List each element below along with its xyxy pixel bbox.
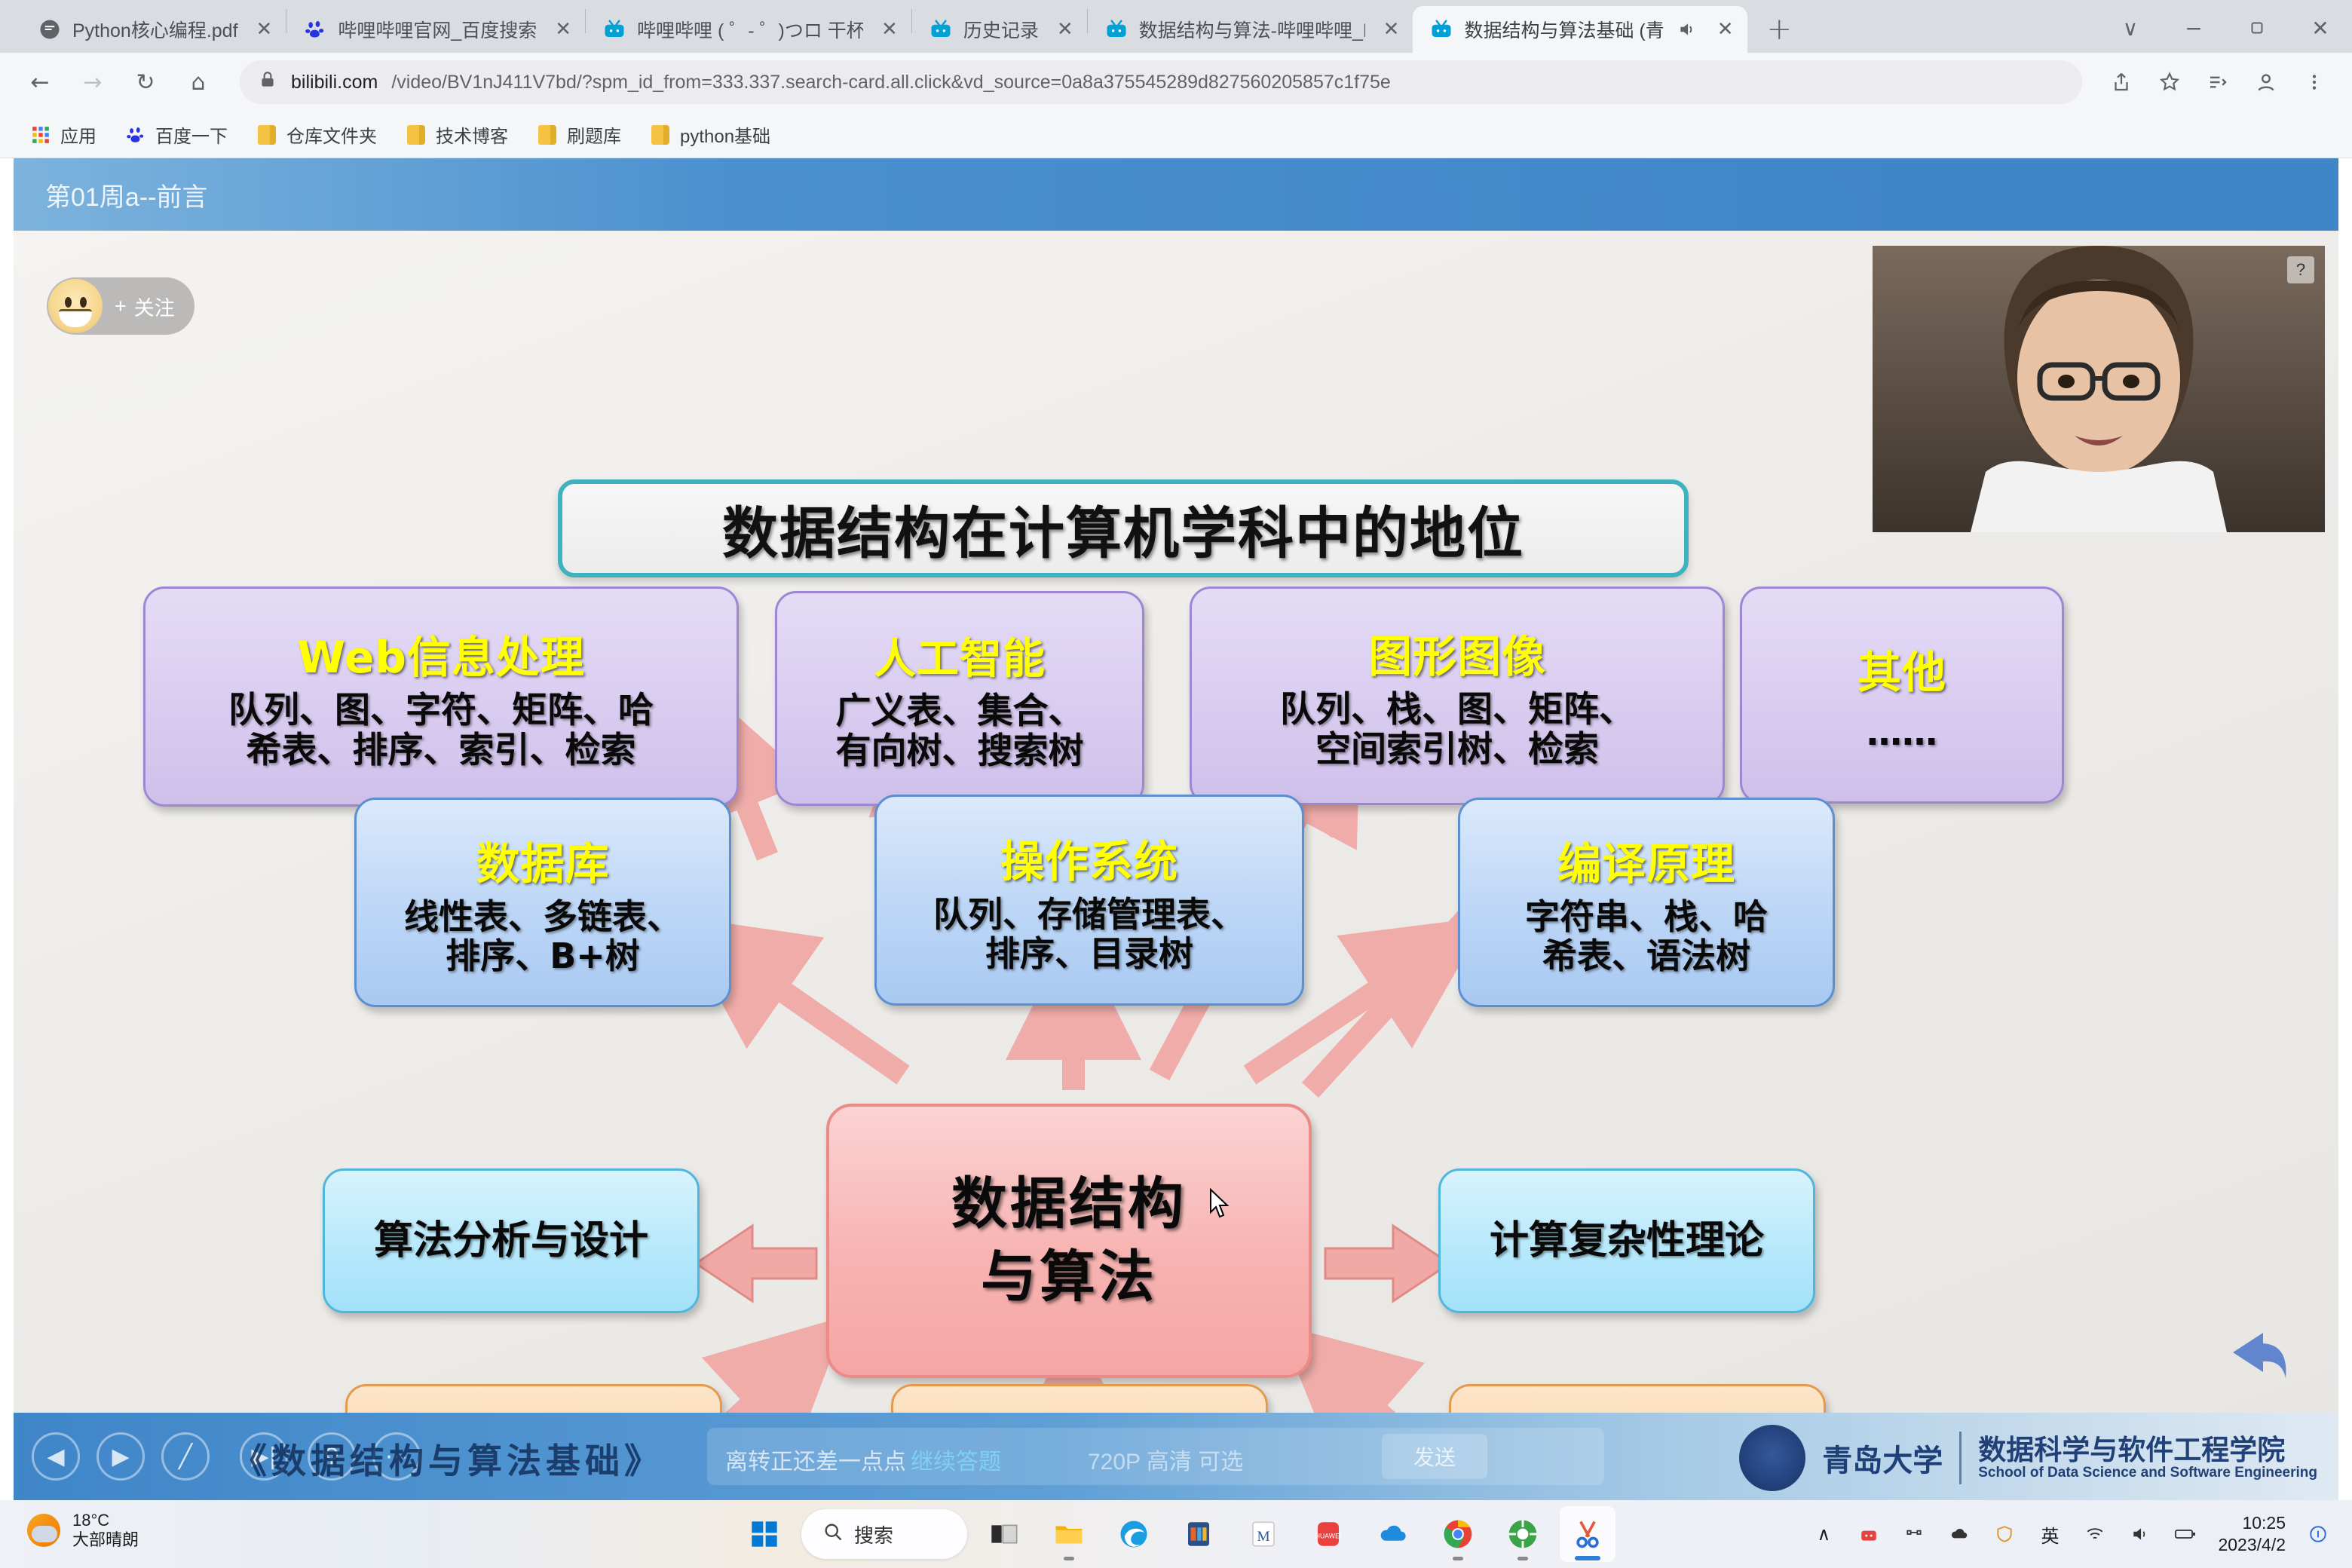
bookmark-folder[interactable]: python基础 xyxy=(638,117,782,152)
reload-button[interactable]: ↻ xyxy=(122,59,169,106)
node-artificial-intelligence: 人工智能 广义表、集合、 有向树、搜索树 xyxy=(775,591,1144,806)
tab-title: 数据结构与算法基础 (青 xyxy=(1464,16,1664,43)
bookmark-apps[interactable]: 应用 xyxy=(18,117,109,152)
slide-header-band: 第01周a--前言 xyxy=(14,158,1913,231)
baidu-icon xyxy=(125,124,146,145)
node-body-line1: 队列、存储管理表、 xyxy=(933,896,1245,935)
word-icon[interactable]: M xyxy=(1236,1506,1291,1562)
svg-text:HUAWEI: HUAWEI xyxy=(1315,1532,1342,1539)
slide-title-text: 数据结构在计算机学科中的地位 xyxy=(722,488,1524,569)
node-head: 人工智能 xyxy=(874,625,1046,686)
bookmark-label: 技术博客 xyxy=(436,121,508,148)
address-bar[interactable]: bilibili.com/video/BV1nJ411V7bd/?spm_id_… xyxy=(240,60,2082,104)
bookmark-label: 刷题库 xyxy=(567,121,621,148)
slide-header-band-right xyxy=(1913,158,2338,231)
bookmark-folder[interactable]: 刷题库 xyxy=(525,117,633,152)
close-icon[interactable]: ✕ xyxy=(1717,18,1734,41)
node-body-line1: 字符串、栈、哈 xyxy=(1525,898,1768,937)
browser-tab-active[interactable]: 数据结构与算法基础 (青 ✕ xyxy=(1413,6,1747,53)
network-adapter-icon[interactable] xyxy=(1901,1521,1927,1547)
minimize-button[interactable]: − xyxy=(2162,6,2225,50)
bilibili-icon xyxy=(1429,17,1453,41)
node-center-data-structures-algorithms: 数据结构 与算法 xyxy=(826,1104,1312,1378)
school-name-cn: 数据科学与软件工程学院 xyxy=(1978,1435,2317,1465)
pen-icon[interactable]: ╱ xyxy=(161,1432,210,1481)
bookmarks-bar: 应用 百度一下 仓库文件夹 技术博客 刷题库 python基础 xyxy=(0,112,2352,158)
node-compiler-principles: 编译原理 字符串、栈、哈 希表、语法树 xyxy=(1458,798,1835,1007)
task-view-icon[interactable] xyxy=(976,1506,1032,1562)
node-head: 图形图像 xyxy=(1368,621,1546,684)
node-web-information-processing: Web信息处理 队列、图、字符、矩阵、哈 希表、排序、索引、检索 xyxy=(143,586,739,807)
bookmark-folder[interactable]: 仓库文件夹 xyxy=(244,117,389,152)
slide-week-label: 第01周a--前言 xyxy=(45,176,207,213)
university-logo: 青岛大学 数据科学与软件工程学院 School of Data Science … xyxy=(1739,1423,2317,1493)
browser-tab[interactable]: 历史记录 ✕ xyxy=(912,6,1087,53)
node-operating-system: 操作系统 队列、存储管理表、 排序、目录树 xyxy=(874,795,1304,1006)
search-input[interactable]: 搜索 xyxy=(801,1509,967,1559)
share-icon[interactable] xyxy=(2100,61,2142,103)
node-body-line1: 线性表、多链表、 xyxy=(404,898,681,937)
start-windows-icon[interactable] xyxy=(737,1506,792,1562)
bookmark-label: 仓库文件夹 xyxy=(286,121,377,148)
send-button[interactable]: 发送 xyxy=(1382,1434,1487,1479)
university-name-cn: 青岛大学 xyxy=(1822,1436,1943,1480)
node-head: 数据库 xyxy=(476,828,609,892)
pdf-icon xyxy=(38,17,62,41)
tab-strip: Python核心编程.pdf ✕ 哔哩哔哩官网_百度搜索 ✕ 哔哩哔哩 ( ゜-… xyxy=(0,0,2352,53)
apps-grid-icon xyxy=(30,124,51,145)
node-body-line2: 希表、语法树 xyxy=(1542,937,1750,976)
onedrive-icon[interactable] xyxy=(1365,1506,1421,1562)
node-graphics-imaging: 图形图像 队列、栈、图、矩阵、 空间索引树、检索 xyxy=(1190,586,1725,805)
search-placeholder: 搜索 xyxy=(854,1521,893,1548)
back-button[interactable]: ← xyxy=(17,59,63,106)
video-control-bar[interactable]: ◀ ▶ ╱ ▶| ⚲ ⋯ 《数据结构与算法基础》 离转正还差一点点 继续答题 7… xyxy=(14,1413,2338,1500)
close-window-button[interactable]: ✕ xyxy=(2289,6,2352,50)
weather-temperature: 18°C xyxy=(72,1511,139,1530)
node-algorithm-analysis-design: 算法分析与设计 xyxy=(323,1168,700,1313)
search-icon xyxy=(822,1521,844,1548)
close-icon[interactable]: ✕ xyxy=(256,18,273,41)
qingdao-university-crest xyxy=(1739,1425,1805,1491)
node-others: 其他 …… xyxy=(1740,586,2064,804)
tab-title: 哔哩哔哩官网_百度搜索 xyxy=(338,16,537,43)
xmind-icon[interactable] xyxy=(1495,1506,1551,1562)
ime-icon[interactable]: 英 xyxy=(2037,1521,2063,1547)
system-tray: ∧ 英 10:25 2023/4/2 xyxy=(1811,1500,2331,1568)
video-player[interactable]: 第01周a--前言 + 关注 xyxy=(14,158,2338,1500)
presenter-webcam: ? xyxy=(1873,246,2325,532)
play-icon[interactable]: ▶ xyxy=(96,1432,145,1481)
video-watermark: 《数据结构与算法基础》 xyxy=(232,1434,663,1484)
tab-title: 历史记录 xyxy=(963,16,1039,43)
center-line1: 数据结构 xyxy=(951,1173,1187,1236)
bookmark-folder[interactable]: 技术博客 xyxy=(394,117,520,152)
tab-title: Python核心编程.pdf xyxy=(72,16,238,43)
quality-label[interactable]: 720P 高清 可选 xyxy=(1088,1443,1243,1476)
chevron-down-icon[interactable]: ∨ xyxy=(2099,6,2162,50)
node-body-line1: 广义表、集合、 xyxy=(836,692,1084,732)
node-body-line1: …… xyxy=(1867,714,1937,754)
kebab-menu-icon[interactable] xyxy=(2293,61,2335,103)
browser-tab[interactable]: 哔哩哔哩 ( ゜- ゜)つロ 干杯~ ✕ xyxy=(586,6,911,53)
reading-list-icon[interactable] xyxy=(2197,61,2239,103)
star-icon[interactable] xyxy=(2148,61,2191,103)
node-head: 编译原理 xyxy=(1557,828,1735,892)
bookmark-label: 百度一下 xyxy=(155,121,228,148)
close-icon[interactable]: ✕ xyxy=(1383,18,1400,41)
windows-taskbar: 18°C 大部晴朗 搜索 M HUAWEI xyxy=(0,1500,2352,1568)
close-icon[interactable]: ✕ xyxy=(1057,18,1073,41)
show-hidden-icons[interactable]: ∧ xyxy=(1811,1521,1836,1547)
tab-audio-icon[interactable] xyxy=(1675,17,1699,41)
node-body-line1: 队列、图、字符、矩阵、哈 xyxy=(228,691,654,731)
bilibili-tray-icon[interactable] xyxy=(1856,1521,1882,1547)
back-arrow-icon[interactable] xyxy=(2210,1319,2293,1387)
node-body-line1: 队列、栈、图、矩阵、 xyxy=(1280,691,1634,730)
url-host: bilibili.com xyxy=(291,72,378,93)
center-line2: 与算法 xyxy=(981,1246,1157,1309)
node-head: 其他 xyxy=(1857,637,1946,700)
node-body-line2: 有向树、搜索树 xyxy=(836,732,1084,772)
window-controls: ∨ − ✕ xyxy=(2099,6,2352,50)
bookmark-baidu[interactable]: 百度一下 xyxy=(113,117,240,152)
bookmark-label: 应用 xyxy=(60,121,96,148)
weather-text: 18°C 大部晴朗 xyxy=(72,1511,139,1551)
slide-canvas: + 关注 xyxy=(14,231,2338,1500)
home-button[interactable]: ⌂ xyxy=(175,59,222,106)
logo-divider xyxy=(1959,1432,1962,1484)
school-name: 数据科学与软件工程学院 School of Data Science and S… xyxy=(1978,1435,2317,1480)
folder-icon xyxy=(406,124,427,145)
folder-icon xyxy=(537,124,558,145)
node-label: 算法分析与设计 xyxy=(374,1219,648,1263)
tab-title: 数据结构与算法-哔哩哔哩_B xyxy=(1139,16,1365,43)
tab-title: 哔哩哔哩 ( ゜- ゜)つロ 干杯~ xyxy=(637,16,863,43)
school-name-en: School of Data Science and Software Engi… xyxy=(1978,1465,2317,1481)
node-body-line2: 空间索引树、检索 xyxy=(1315,730,1599,770)
browser-tab[interactable]: Python核心编程.pdf ✕ xyxy=(21,6,286,53)
slide-title: 数据结构在计算机学科中的地位 xyxy=(558,479,1689,577)
browser-toolbar: ← → ↻ ⌂ bilibili.com/video/BV1nJ411V7bd/… xyxy=(0,53,2352,112)
volume-icon[interactable] xyxy=(2127,1521,2153,1547)
snipping-tool-icon[interactable] xyxy=(1560,1506,1615,1562)
browser-window: Python核心编程.pdf ✕ 哔哩哔哩官网_百度搜索 ✕ 哔哩哔哩 ( ゜-… xyxy=(0,0,2352,1500)
node-label: 计算复杂性理论 xyxy=(1490,1219,1764,1263)
lock-icon xyxy=(258,70,277,95)
security-icon[interactable] xyxy=(1992,1521,2017,1547)
new-tab-button[interactable]: + xyxy=(1747,12,1812,47)
browser-tab[interactable]: 数据结构与算法-哔哩哔哩_B ✕ xyxy=(1088,6,1413,53)
node-computational-complexity-theory: 计算复杂性理论 xyxy=(1438,1168,1815,1313)
continue-quiz-link[interactable]: 继续答题 xyxy=(911,1443,1001,1476)
bilibili-icon xyxy=(1104,17,1129,41)
wifi-icon[interactable] xyxy=(2082,1521,2108,1547)
node-body-line2: 希表、排序、索引、检索 xyxy=(247,731,636,771)
weather-icon xyxy=(27,1514,60,1547)
clock-date: 2023/4/2 xyxy=(2218,1534,2286,1556)
prev-icon[interactable]: ◀ xyxy=(32,1432,80,1481)
taskbar-apps: 搜索 M HUAWEI xyxy=(737,1500,1615,1568)
node-body-line2: 排序、B+树 xyxy=(446,937,640,976)
danmaku-placeholder: 离转正还差一点点 xyxy=(725,1443,906,1476)
page-content: 第01周a--前言 + 关注 xyxy=(0,158,2352,1500)
node-head: Web信息处理 xyxy=(297,622,585,685)
file-explorer-icon[interactable] xyxy=(1041,1506,1097,1562)
folder-icon xyxy=(256,124,277,145)
bilibili-icon xyxy=(602,17,626,41)
url-path: /video/BV1nJ411V7bd/?spm_id_from=333.337… xyxy=(391,72,1391,93)
browser-tab[interactable]: 哔哩哔哩官网_百度搜索 ✕ xyxy=(286,6,585,53)
edge-icon[interactable] xyxy=(1106,1506,1162,1562)
profile-icon[interactable] xyxy=(2245,61,2287,103)
close-icon[interactable]: ✕ xyxy=(555,18,571,41)
node-body-line2: 排序、目录树 xyxy=(985,935,1193,974)
battery-icon[interactable] xyxy=(2173,1521,2198,1547)
weather-widget[interactable]: 18°C 大部晴朗 xyxy=(27,1511,139,1551)
folder-icon xyxy=(650,124,671,145)
node-database: 数据库 线性表、多链表、 排序、B+树 xyxy=(354,798,731,1007)
notification-icon[interactable] xyxy=(2305,1521,2331,1547)
bookmark-label: python基础 xyxy=(680,121,770,148)
weather-description: 大部晴朗 xyxy=(72,1530,139,1550)
baidu-icon xyxy=(303,17,327,41)
svg-text:M: M xyxy=(1257,1529,1269,1545)
chrome-icon[interactable] xyxy=(1430,1506,1486,1562)
close-icon[interactable]: ✕ xyxy=(881,18,898,41)
forward-button[interactable]: → xyxy=(69,59,116,106)
help-icon[interactable]: ? xyxy=(2287,256,2314,283)
node-head: 操作系统 xyxy=(1000,826,1178,890)
clock-time: 10:25 xyxy=(2242,1512,2286,1534)
cloud-icon[interactable] xyxy=(1946,1521,1972,1547)
office-icon[interactable] xyxy=(1171,1506,1227,1562)
huawei-icon[interactable]: HUAWEI xyxy=(1300,1506,1356,1562)
taskbar-clock[interactable]: 10:25 2023/4/2 xyxy=(2218,1512,2286,1556)
maximize-button[interactable] xyxy=(2225,6,2289,50)
bilibili-icon xyxy=(929,17,953,41)
